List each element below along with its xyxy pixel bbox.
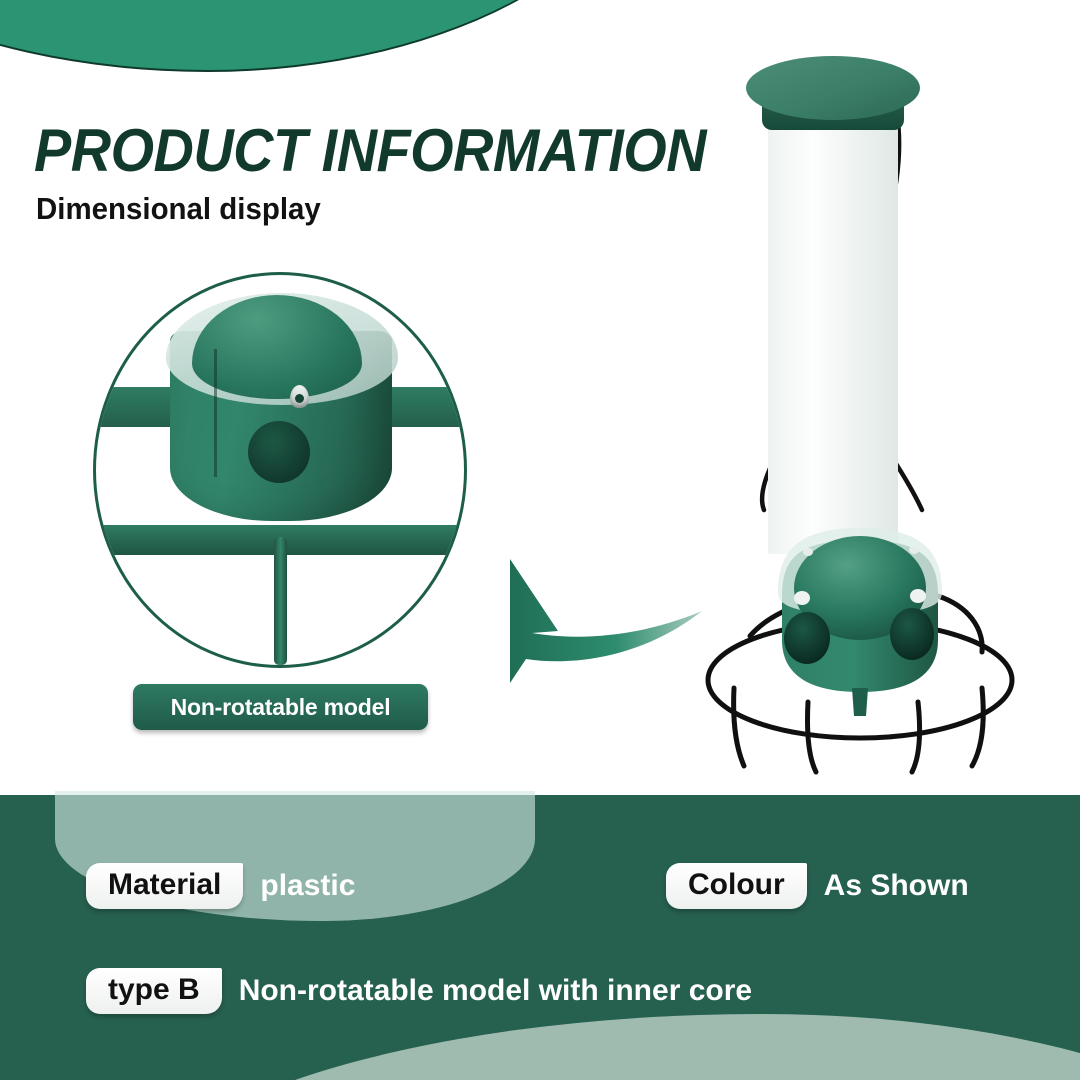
feeder-seam-line: [214, 349, 217, 477]
spec-label-type: type B: [86, 968, 222, 1014]
spec-row-material: Material plastic: [86, 863, 355, 909]
screw-fastener-icon: [290, 385, 309, 408]
spec-row-type: type B Non-rotatable model with inner co…: [86, 968, 752, 1014]
product-photo: [690, 40, 1050, 780]
top-swoosh-decoration: [0, 0, 660, 70]
spec-label-material: Material: [86, 863, 243, 909]
non-rotatable-model-badge: Non-rotatable model: [133, 684, 428, 730]
spec-value-material: plastic: [260, 869, 355, 903]
feeder-stem: [274, 537, 287, 665]
page-subtitle: Dimensional display: [36, 192, 321, 226]
curved-arrow-icon: [440, 545, 710, 695]
spec-label-colour: Colour: [666, 863, 807, 909]
badge-label: Non-rotatable model: [171, 694, 391, 721]
spec-row-colour: Colour As Shown: [666, 863, 969, 909]
product-information-graphic: PRODUCT INFORMATION Dimensional display: [0, 0, 1080, 1080]
spec-value-type: Non-rotatable model with inner core: [239, 974, 752, 1008]
page-title: PRODUCT INFORMATION: [34, 121, 706, 181]
feeding-port-hole: [248, 421, 310, 483]
spec-value-colour: As Shown: [824, 869, 969, 903]
magnified-detail-circle: [93, 272, 467, 668]
